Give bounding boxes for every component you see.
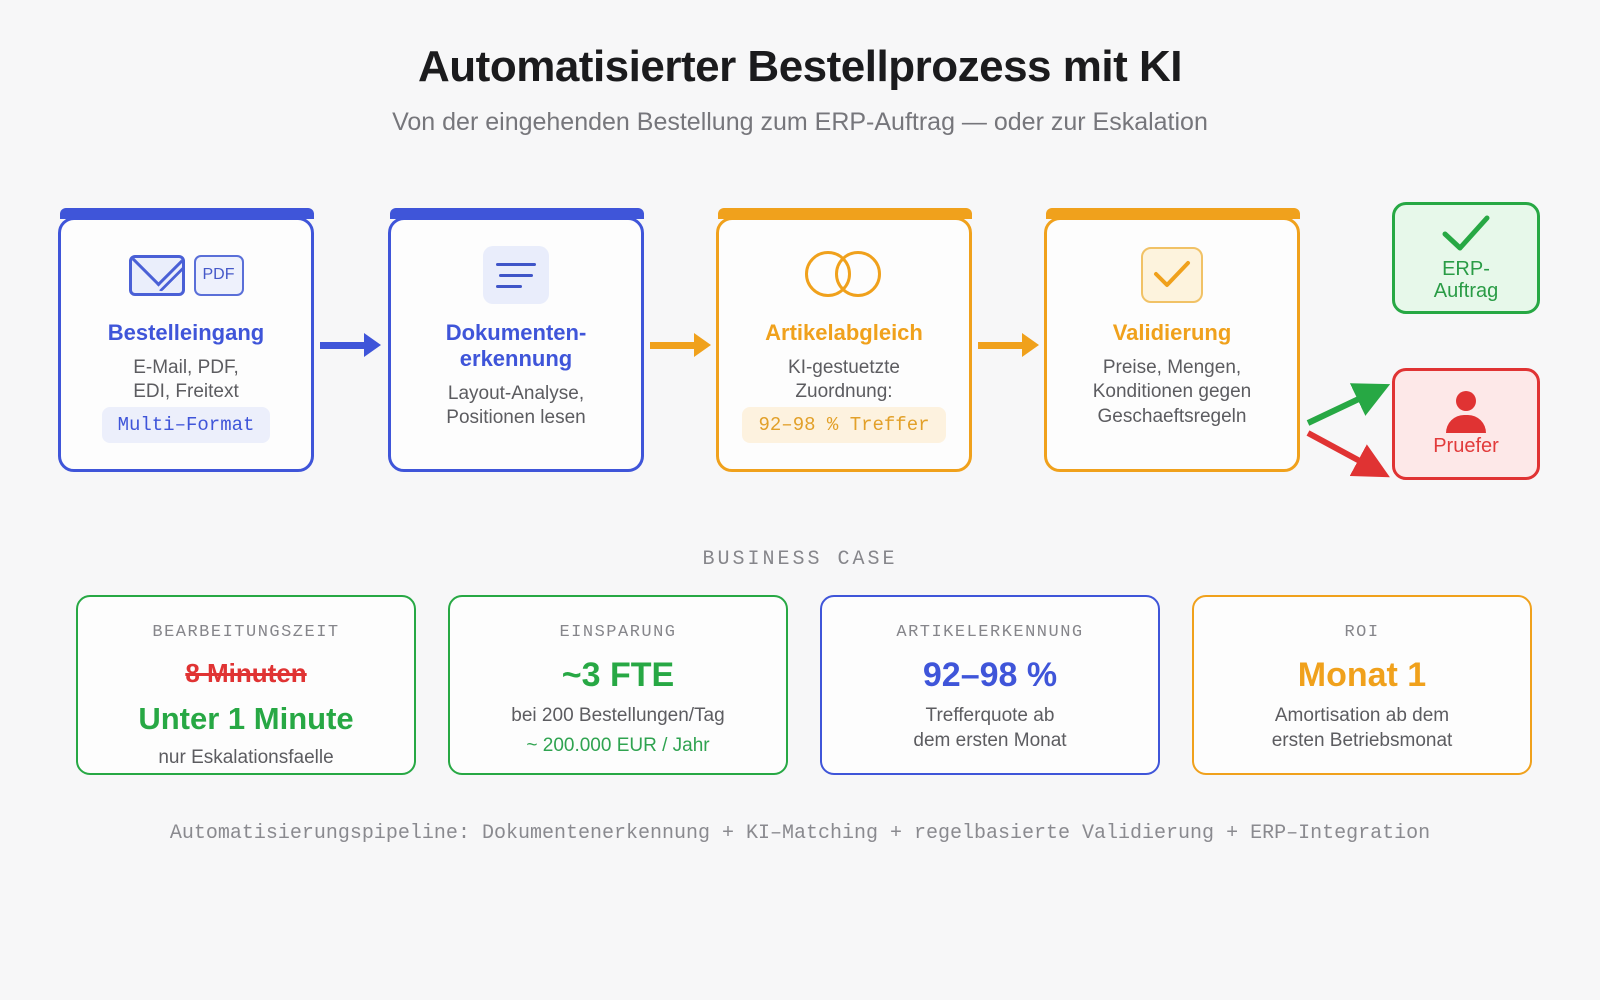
stage-description: Preise, Mengen, Konditionen gegen Gescha…: [1093, 356, 1251, 429]
overlapping-circles-icon: [805, 251, 883, 299]
outcome-erp-auftrag[interactable]: ERP- Auftrag: [1392, 202, 1540, 314]
stage-accent-bar: [718, 208, 972, 219]
bc-kicker: ARTIKELERKENNUNG: [896, 623, 1083, 642]
flow-stage-artikelabgleich[interactable]: Artikelabgleich KI-gestuetzte Zuordnung:…: [716, 217, 972, 472]
stage-icon-group: [1141, 236, 1203, 314]
person-icon: [1443, 391, 1489, 431]
stage-chip: Multi–Format: [102, 407, 271, 443]
bc-subtext: bei 200 Bestellungen/Tag: [511, 704, 724, 729]
page-title: Automatisierter Bestellprozess mit KI: [0, 42, 1600, 92]
arrow-stage1-to-stage2: [320, 330, 384, 360]
stage-accent-bar: [1046, 208, 1300, 219]
stage-title: Validierung: [1113, 320, 1232, 346]
bc-card-einsparung[interactable]: EINSPARUNG ~3 FTE bei 200 Bestellungen/T…: [448, 595, 788, 775]
outcome-label: ERP- Auftrag: [1434, 258, 1498, 302]
bc-subtext: nur Eskalationsfaelle: [158, 746, 333, 771]
bc-subtext-secondary: ~ 200.000 EUR / Jahr: [526, 734, 709, 759]
bc-card-bearbeitungszeit[interactable]: BEARBEITUNGSZEIT 8 Minuten Unter 1 Minut…: [76, 595, 416, 775]
stage-accent-bar: [60, 208, 314, 219]
document-lines-icon: [483, 246, 549, 304]
flow-stage-bestelleingang[interactable]: PDF Bestelleingang E-Mail, PDF, EDI, Fre…: [58, 217, 314, 472]
stage-description: KI-gestuetzte Zuordnung:: [788, 356, 900, 405]
bc-main-value: 92–98 %: [923, 656, 1057, 695]
stage-title: Bestelleingang: [108, 320, 264, 346]
footer-caption: Automatisierungspipeline: Dokumentenerke…: [0, 822, 1600, 845]
flow-stage-dokumentenerkennung[interactable]: Dokumenten- erkennung Layout-Analyse, Po…: [388, 217, 644, 472]
bc-main-value: Unter 1 Minute: [138, 701, 353, 737]
pdf-badge: PDF: [194, 255, 244, 296]
page-subtitle: Von der eingehenden Bestellung zum ERP-A…: [0, 108, 1600, 137]
stage-description: E-Mail, PDF, EDI, Freitext: [133, 356, 239, 405]
process-flow: PDF Bestelleingang E-Mail, PDF, EDI, Fre…: [0, 205, 1600, 485]
bc-subtext: Amortisation ab dem ersten Betriebsmonat: [1272, 704, 1453, 753]
arrow-stage2-to-stage3: [650, 330, 714, 360]
arrow-stage3-to-stage4: [978, 330, 1042, 360]
envelope-icon: [129, 255, 185, 296]
business-case-section-label: BUSINESS CASE: [0, 548, 1600, 571]
bc-main-value: ~3 FTE: [562, 656, 674, 695]
stage-chip: 92–98 % Treffer: [742, 407, 945, 443]
stage-description: Layout-Analyse, Positionen lesen: [446, 382, 585, 431]
stage-title: Dokumenten- erkennung: [446, 320, 587, 372]
bc-strikethrough-value: 8 Minuten: [185, 658, 306, 689]
stage-title: Artikelabgleich: [765, 320, 923, 346]
business-case-row: BEARBEITUNGSZEIT 8 Minuten Unter 1 Minut…: [0, 595, 1600, 775]
arrow-to-pruefer: [1300, 355, 1400, 555]
bc-subtext: Trefferquote ab dem ersten Monat: [913, 704, 1066, 753]
bc-kicker: ROI: [1344, 623, 1379, 642]
bc-kicker: BEARBEITUNGSZEIT: [152, 623, 339, 642]
checkmark-icon: [1141, 247, 1203, 303]
stage-icon-group: PDF: [129, 236, 244, 314]
stage-icon-group: [805, 236, 883, 314]
bc-card-roi[interactable]: ROI Monat 1 Amortisation ab dem ersten B…: [1192, 595, 1532, 775]
check-icon: [1438, 214, 1494, 254]
outcome-pruefer[interactable]: Pruefer: [1392, 368, 1540, 480]
bc-main-value: Monat 1: [1298, 656, 1426, 695]
bc-kicker: EINSPARUNG: [559, 623, 676, 642]
stage-accent-bar: [390, 208, 644, 219]
infographic-page: Automatisierter Bestellprozess mit KI Vo…: [0, 0, 1600, 1000]
flow-stage-validierung[interactable]: Validierung Preise, Mengen, Konditionen …: [1044, 217, 1300, 472]
bc-card-artikelerkennung[interactable]: ARTIKELERKENNUNG 92–98 % Trefferquote ab…: [820, 595, 1160, 775]
outcome-label: Pruefer: [1433, 435, 1499, 457]
stage-icon-group: [483, 236, 549, 314]
